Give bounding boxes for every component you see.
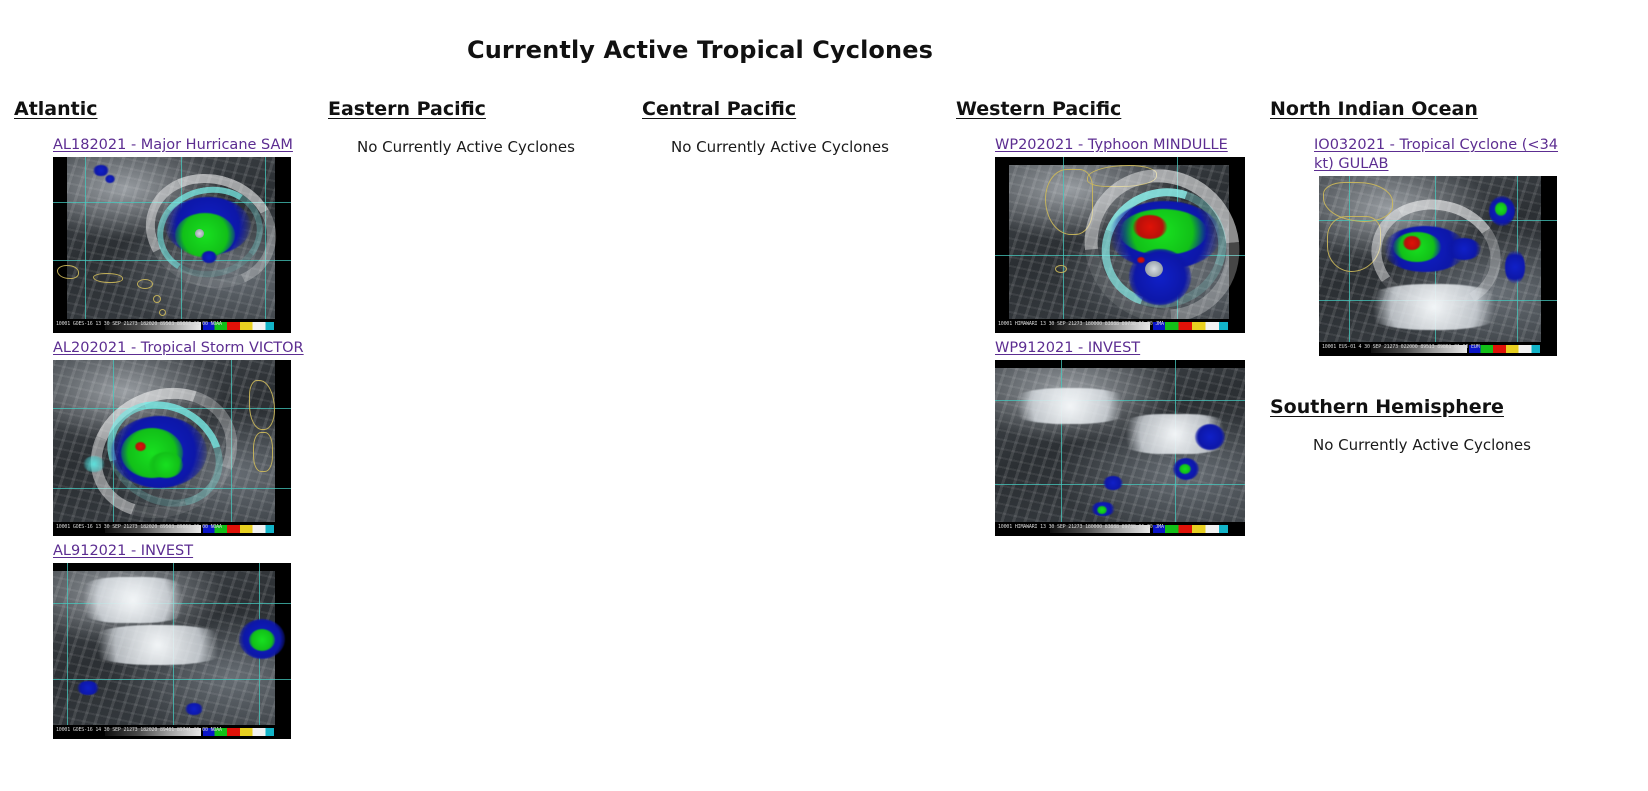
- sat-storm-eye: [1145, 261, 1163, 277]
- sat-cloudtop-green: [175, 213, 235, 257]
- sat-edge-right: [275, 157, 291, 319]
- satellite-image-al182021[interactable]: 10001 GOES-16 13 30 SEP 21273 182020 895…: [53, 157, 291, 333]
- sat-cloudtop-blue: [1505, 250, 1525, 284]
- page-root: Currently Active Tropical Cyclones Atlan…: [0, 0, 1648, 791]
- no-storms-message-central-pacific: No Currently Active Cyclones: [642, 136, 918, 156]
- sat-gridline: [1061, 360, 1062, 522]
- sat-cloud-mass: [1005, 388, 1135, 424]
- sat-edge-left: [995, 157, 1009, 319]
- sat-coastline: [253, 432, 273, 472]
- sat-edge-top: [995, 360, 1245, 368]
- sat-colorbar-strip: 10001 GOES-16 13 30 SEP 21273 182020 895…: [53, 319, 291, 333]
- sat-cloud-mass: [1359, 284, 1509, 330]
- sat-caption-left: 10001 GOES-16 14 30 SEP 21273 182020 894…: [56, 727, 222, 733]
- basin-heading-central-pacific: Central Pacific: [642, 98, 796, 120]
- basin-heading-southern-hemisphere: Southern Hemisphere: [1270, 396, 1504, 418]
- sat-cloud-mass: [83, 625, 233, 665]
- sat-gridline: [85, 157, 86, 319]
- no-storms-message-eastern-pacific: No Currently Active Cyclones: [328, 136, 604, 156]
- sat-edge-top: [995, 157, 1245, 165]
- storm-entry-wp912021: WP912021 - INVEST: [956, 339, 1256, 536]
- sat-edge-top: [53, 563, 291, 571]
- sat-cloudtop-green: [249, 629, 275, 651]
- basin-heading-eastern-pacific: Eastern Pacific: [328, 98, 486, 120]
- sat-coastline: [153, 295, 161, 303]
- sat-caption-left: 10001 GOES-16 13 30 SEP 21273 182020 895…: [56, 524, 222, 530]
- sat-colorbar-strip: 10001 EUS-01 4 30 SEP 21273 022000 89513…: [1319, 342, 1557, 356]
- sat-cloudtop-red: [1403, 236, 1421, 250]
- sat-cloudtop-red: [135, 442, 146, 451]
- satellite-image-wp202021[interactable]: 10001 HIMAWARI 13 30 SEP 21273 180000 83…: [995, 157, 1245, 333]
- sat-caption-left: 10001 HIMAWARI 13 30 SEP 21273 180000 83…: [998, 524, 1164, 530]
- sat-cloudtop-blue: [93, 165, 109, 176]
- sat-colorbar-strip: 10001 GOES-16 14 30 SEP 21273 182020 894…: [53, 725, 291, 739]
- basin-column-north-indian-ocean: North Indian Ocean IO032021 - Tropical C…: [1256, 98, 1634, 454]
- storm-entry-al912021: AL912021 - INVEST: [14, 542, 314, 739]
- sat-coastline: [159, 309, 166, 316]
- sat-cloudtop-cyan: [83, 456, 105, 472]
- sat-cloudtop-blue: [105, 175, 115, 183]
- storm-entry-io032021: IO032021 - Tropical Cyclone (<34 kt) GUL…: [1270, 136, 1634, 356]
- sat-colorbar-strip: 10001 HIMAWARI 13 30 SEP 21273 180000 83…: [995, 522, 1245, 536]
- basin-column-eastern-pacific: Eastern Pacific No Currently Active Cycl…: [314, 98, 628, 156]
- sat-cloudtop-blue: [1195, 424, 1225, 450]
- sat-coastline: [137, 279, 153, 289]
- sat-cloudtop-red: [1137, 257, 1145, 263]
- basin-column-western-pacific: Western Pacific WP202021 - Typhoon MINDU…: [942, 98, 1256, 542]
- sat-cloudtop-red: [1133, 215, 1167, 239]
- sat-cloudtop-blue: [1447, 238, 1481, 260]
- sat-cloudtop-blue: [185, 703, 203, 715]
- sat-caption-left: 10001 EUS-01 4 30 SEP 21273 022000 89513…: [1322, 344, 1479, 350]
- sat-cloudtop-green: [1097, 506, 1107, 514]
- storm-entry-al182021: AL182021 - Major Hurricane SAM: [14, 136, 314, 333]
- satellite-image-io032021[interactable]: 10001 EUS-01 4 30 SEP 21273 022000 89513…: [1319, 176, 1557, 356]
- sat-cloud-mass: [73, 577, 193, 623]
- satellite-image-wp912021[interactable]: 10001 HIMAWARI 13 30 SEP 21273 180000 83…: [995, 360, 1245, 536]
- basin-column-central-pacific: Central Pacific No Currently Active Cycl…: [628, 98, 942, 156]
- storm-link-al202021[interactable]: AL202021 - Tropical Storm VICTOR: [53, 339, 311, 358]
- satellite-image-al912021[interactable]: 10001 GOES-16 14 30 SEP 21273 182020 894…: [53, 563, 291, 739]
- sat-cloudtop-blue: [1103, 476, 1123, 490]
- sat-caption-left: 10001 GOES-16 13 30 SEP 21273 182020 895…: [56, 321, 222, 327]
- basin-heading-western-pacific: Western Pacific: [956, 98, 1121, 120]
- storm-link-wp202021[interactable]: WP202021 - Typhoon MINDULLE: [995, 136, 1253, 155]
- sat-storm-eye: [195, 229, 204, 238]
- basin-columns: Atlantic AL182021 - Major Hurricane SAM: [0, 98, 1648, 745]
- storm-link-al182021[interactable]: AL182021 - Major Hurricane SAM: [53, 136, 311, 155]
- sat-edge-right: [275, 360, 291, 522]
- sat-cloudtop-green: [149, 452, 183, 478]
- basin-column-atlantic: Atlantic AL182021 - Major Hurricane SAM: [0, 98, 314, 745]
- page-title: Currently Active Tropical Cyclones: [0, 36, 1400, 64]
- sat-colorbar-strip: 10001 GOES-16 13 30 SEP 21273 182020 895…: [53, 522, 291, 536]
- no-storms-message-southern-hemisphere: No Currently Active Cyclones: [1284, 434, 1560, 454]
- sat-color-ramp: [1469, 345, 1540, 353]
- sat-coastline: [57, 265, 79, 279]
- sat-cloudtop-green: [1179, 464, 1191, 474]
- sat-gridline: [67, 563, 68, 725]
- satellite-image-al202021[interactable]: 10001 GOES-16 13 30 SEP 21273 182020 895…: [53, 360, 291, 536]
- basin-heading-atlantic: Atlantic: [14, 98, 98, 120]
- storm-entry-al202021: AL202021 - Tropical Storm VICTOR: [14, 339, 314, 536]
- sat-cloudtop-blue: [77, 681, 99, 695]
- storm-link-wp912021[interactable]: WP912021 - INVEST: [995, 339, 1253, 358]
- sat-edge-right: [1541, 176, 1557, 342]
- basin-heading-north-indian-ocean: North Indian Ocean: [1270, 98, 1478, 120]
- storm-link-al912021[interactable]: AL912021 - INVEST: [53, 542, 311, 561]
- sat-caption-left: 10001 HIMAWARI 13 30 SEP 21273 180000 83…: [998, 321, 1164, 327]
- sat-cloudtop-green: [1495, 202, 1507, 216]
- sat-coastline: [1055, 265, 1067, 273]
- sat-gridline: [53, 679, 291, 680]
- sat-colorbar-strip: 10001 HIMAWARI 13 30 SEP 21273 180000 83…: [995, 319, 1245, 333]
- storm-entry-wp202021: WP202021 - Typhoon MINDULLE: [956, 136, 1256, 333]
- storm-link-io032021[interactable]: IO032021 - Tropical Cyclone (<34 kt) GUL…: [1314, 136, 1570, 174]
- sat-edge-left: [53, 157, 67, 319]
- sat-cloudtop-blue: [201, 251, 217, 263]
